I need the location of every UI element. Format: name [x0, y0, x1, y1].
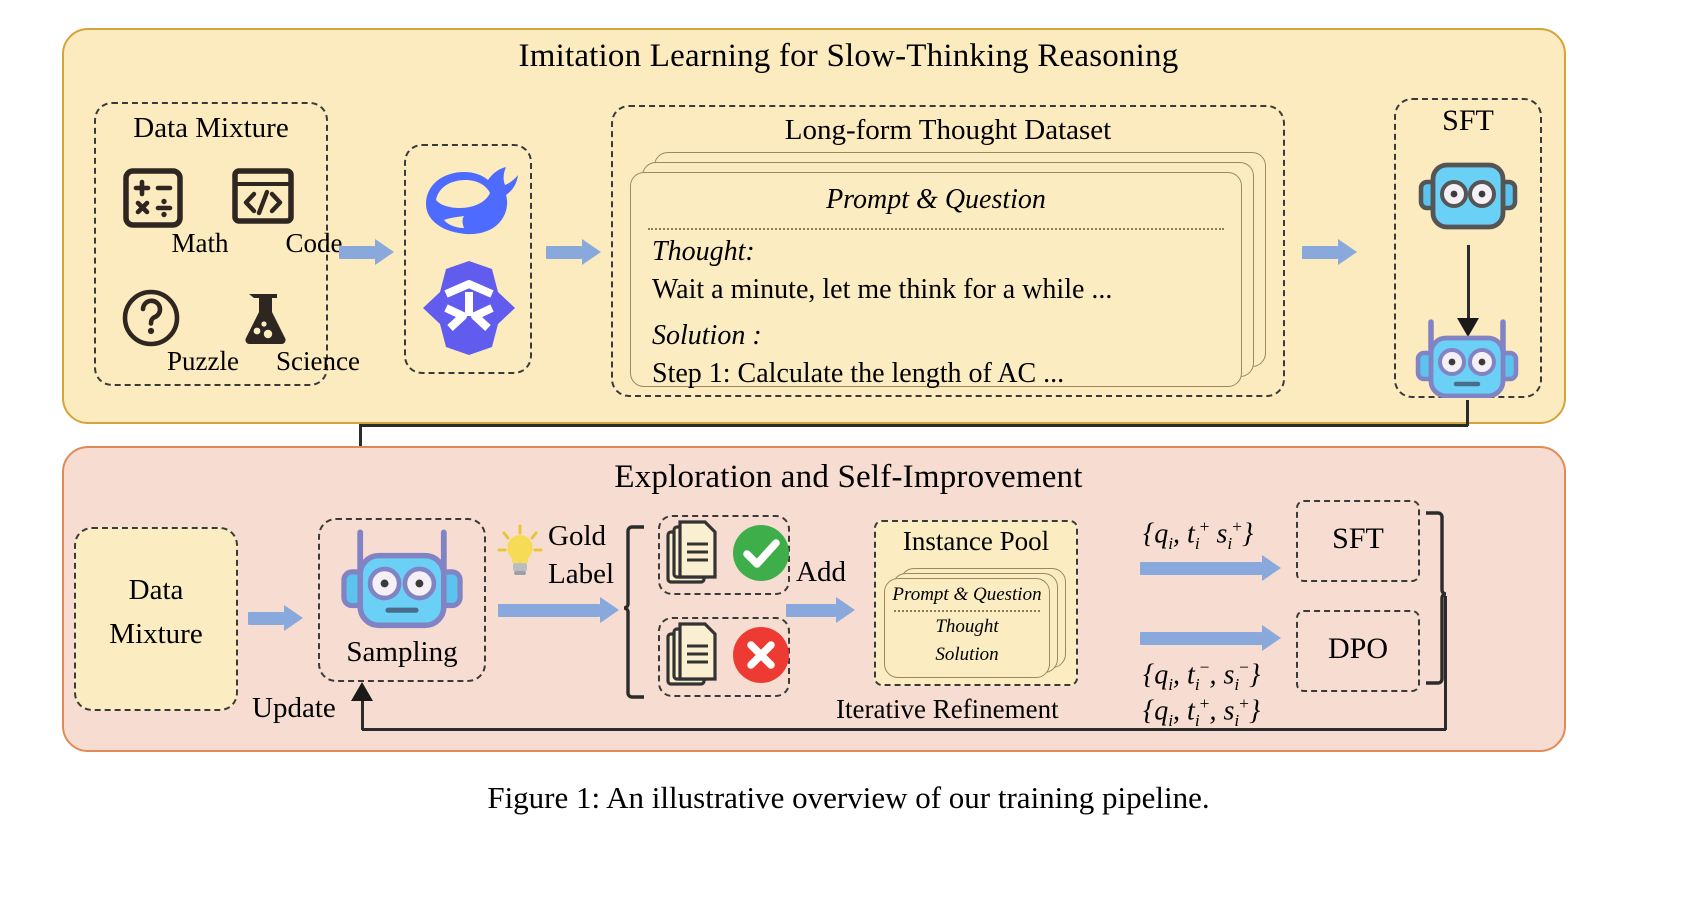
documents-icon	[665, 518, 727, 597]
thought-text: Wait a minute, let me think for a while …	[652, 274, 1112, 306]
data-mixture-item-label: Science	[262, 346, 374, 377]
feedback-line-horizontal	[362, 728, 1446, 731]
data-mixture-line1: Data	[74, 574, 238, 607]
formula-negative: {qi, ti−, si−}	[1143, 658, 1260, 695]
connector-horizontal	[360, 424, 1468, 427]
gold-label-line1: Gold	[548, 520, 606, 553]
data-mixture-line2: Mixture	[74, 618, 238, 651]
sft-transform-arrow-shaft	[1467, 245, 1470, 323]
pool-card-line2: Solution	[884, 644, 1050, 666]
instance-pool-card-stack: Prompt & Question Thought Solution	[884, 568, 1070, 678]
data-mixture-item-math: Math	[106, 168, 200, 273]
formula-positive-top: {qi, ti+ si+}	[1143, 517, 1253, 554]
solution-label: Solution :	[652, 320, 762, 352]
brace-bracket	[620, 524, 646, 705]
sampling-label: Sampling	[318, 636, 486, 669]
data-mixture-item-puzzle: Puzzle	[103, 288, 203, 388]
data-mixture-title: Data Mixture	[94, 112, 328, 145]
pool-card-line1: Thought	[884, 616, 1050, 638]
thought-dataset-title: Long-form Thought Dataset	[611, 114, 1285, 147]
code-brackets-icon	[232, 168, 294, 231]
add-label: Add	[786, 556, 856, 589]
robot-head-grey-icon	[1413, 158, 1523, 243]
feedback-line-vertical-left	[361, 700, 364, 730]
sft-title: SFT	[1394, 104, 1542, 138]
documents-icon	[665, 620, 727, 699]
qwq-qwen-logo	[420, 258, 518, 363]
connector-down-from-sft	[1466, 400, 1469, 426]
update-label: Update	[252, 692, 336, 725]
lightbulb-icon	[496, 524, 544, 583]
gold-label-line2: Label	[548, 558, 614, 591]
bottom-panel-title: Exploration and Self-Improvement	[0, 459, 1697, 496]
data-mixture-item-science: Science	[206, 288, 318, 388]
cross-circle-icon	[730, 624, 792, 691]
pool-card-header: Prompt & Question	[884, 584, 1050, 606]
question-mark-circle-icon	[121, 288, 181, 353]
robot-head-antenna-icon	[1405, 318, 1529, 403]
deepseek-whale-logo	[418, 156, 518, 253]
figure-caption: Figure 1: An illustrative overview of ou…	[0, 780, 1697, 816]
trainer-label-sft: SFT	[1296, 522, 1420, 556]
instance-pool-title: Instance Pool	[874, 526, 1078, 557]
top-panel-title: Imitation Learning for Slow-Thinking Rea…	[0, 38, 1697, 75]
flask-icon	[236, 290, 290, 351]
check-circle-icon	[730, 522, 792, 589]
iterative-refinement-label: Iterative Refinement	[836, 694, 1059, 725]
trainer-label-dpo: DPO	[1296, 632, 1420, 666]
solution-text: Step 1: Calculate the length of AC ...	[652, 358, 1064, 390]
thought-dataset-card-stack: Prompt & Question Thought: Wait a minute…	[630, 152, 1270, 387]
math-operators-icon	[123, 168, 183, 233]
feedback-arrow-head	[351, 682, 373, 701]
data-mixture-item-code: Code	[210, 168, 314, 273]
card-header: Prompt & Question	[630, 184, 1242, 216]
feedback-line-vertical-right	[1444, 596, 1447, 730]
thought-label: Thought:	[652, 236, 755, 268]
formula-positive-bottom: {qi, ti+, si+}	[1143, 694, 1260, 731]
robot-head-antenna-icon	[330, 524, 474, 641]
